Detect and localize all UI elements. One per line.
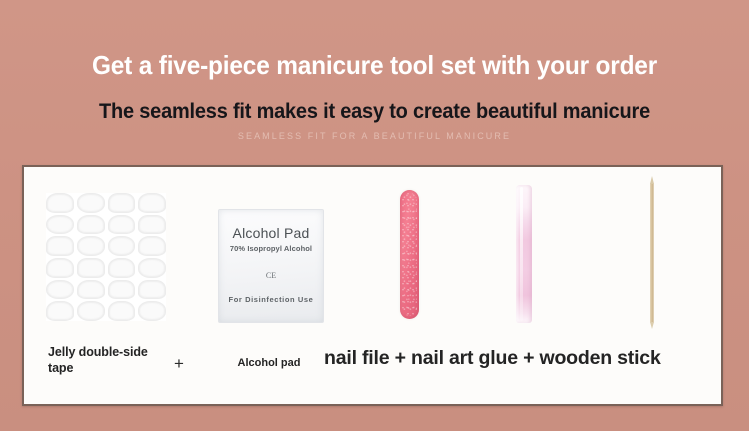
caption-jelly-tape: Jelly double-side tape <box>48 345 166 376</box>
ce-mark-icon: CE <box>219 271 323 280</box>
caption-alcohol-pad: Alcohol pad <box>214 357 324 371</box>
product-cell-jelly-tape <box>24 167 189 342</box>
page-subtitle: The seamless fit makes it easy to create… <box>19 100 731 124</box>
product-cell-nail-file <box>349 167 469 342</box>
product-showcase-card: Alcohol Pad 70% Isopropyl Alcohol CE For… <box>22 165 723 406</box>
micro-caption: SEAMLESS FIT FOR A BEAUTIFUL MANICURE <box>0 131 749 141</box>
page-title: Get a five-piece manicure tool set with … <box>22 50 726 81</box>
nail-glue-icon <box>516 185 532 323</box>
product-cell-nail-glue <box>464 167 584 342</box>
product-cell-wooden-stick <box>584 167 719 342</box>
alcohol-pad-subtitle: 70% Isopropyl Alcohol <box>219 244 323 253</box>
alcohol-pad-title: Alcohol Pad <box>219 225 323 241</box>
wooden-stick-icon <box>650 183 654 323</box>
nail-file-icon <box>400 190 419 319</box>
tape-sheet-icon <box>46 193 166 321</box>
product-caption-row: Jelly double-side tape + Alcohol pad nai… <box>24 341 721 405</box>
alcohol-pad-icon: Alcohol Pad 70% Isopropyl Alcohol CE For… <box>218 209 324 323</box>
product-cell-alcohol-pad: Alcohol Pad 70% Isopropyl Alcohol CE For… <box>204 167 336 342</box>
caption-tool-trio: nail file + nail art glue + wooden stick <box>324 346 714 370</box>
promo-banner: Get a five-piece manicure tool set with … <box>0 0 749 431</box>
product-image-row: Alcohol Pad 70% Isopropyl Alcohol CE For… <box>24 167 721 342</box>
alcohol-pad-usage: For Disinfection Use <box>219 295 323 304</box>
caption-plus-separator: + <box>174 353 184 374</box>
